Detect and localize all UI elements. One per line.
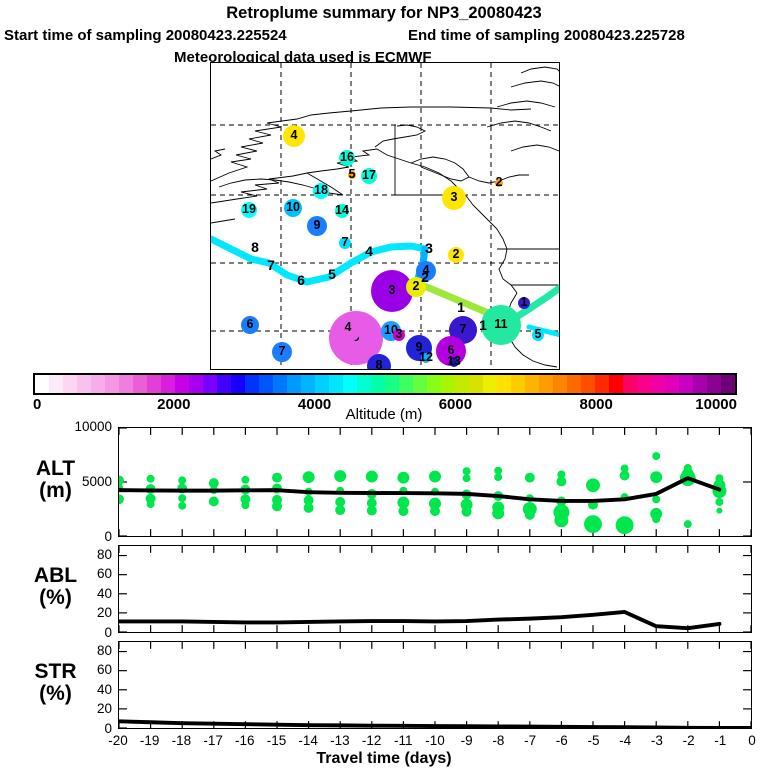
colorbar-swatch — [189, 375, 203, 393]
colorbar-swatch — [455, 375, 469, 393]
y-tick-label: 20 — [52, 605, 112, 620]
colorbar-swatch — [707, 375, 721, 393]
cluster-marker-label: 3 — [442, 190, 466, 204]
x-tick-label: 0 — [732, 733, 768, 748]
colorbar-swatch — [203, 375, 217, 393]
altitude-scatter-point — [584, 515, 602, 533]
y-tick-label: 0 — [52, 529, 112, 544]
trajectory-day-label: 6 — [289, 272, 313, 288]
altitude-scatter-point — [429, 471, 441, 483]
alt-plot-area — [119, 428, 751, 536]
altitude-scatter-point — [463, 467, 471, 475]
colorbar-swatch — [245, 375, 259, 393]
trajectory-day-label: 1 — [449, 299, 473, 315]
trajectory-day-label: 4 — [357, 243, 381, 259]
cluster-marker-label: 4 — [336, 320, 360, 334]
colorbar-swatch — [77, 375, 91, 393]
cluster-marker-label: 12 — [414, 350, 438, 364]
cluster-marker-label: 17 — [357, 168, 381, 182]
altitude-scatter-point — [272, 501, 282, 511]
colorbar-swatch — [651, 375, 665, 393]
altitude-scatter-point — [272, 473, 282, 483]
colorbar-swatch — [231, 375, 245, 393]
altitude-scatter-point — [463, 474, 471, 482]
cluster-marker-label: 8 — [367, 358, 391, 370]
altitude-scatter-point — [241, 476, 249, 484]
altitude-scatter-point — [525, 510, 535, 520]
colorbar-swatch — [175, 375, 189, 393]
colorbar-swatch — [35, 375, 49, 393]
altitude-scatter-point — [178, 476, 186, 484]
altitude-scatter-point — [147, 500, 155, 508]
altitude-scatter-point — [652, 515, 660, 523]
colorbar-swatch — [343, 375, 357, 393]
colorbar-swatch — [679, 375, 693, 393]
altitude-scatter-point — [241, 501, 249, 509]
colorbar-swatch — [581, 375, 595, 393]
altitude-scatter-point — [462, 507, 472, 517]
colorbar-swatch — [623, 375, 637, 393]
altitude-scatter-point — [716, 508, 722, 514]
colorbar-swatch — [273, 375, 287, 393]
cluster-marker-label: 2 — [444, 247, 468, 261]
altitude-scatter-point — [397, 472, 409, 484]
altitude-scatter-point — [430, 506, 440, 516]
colorbar-swatch — [259, 375, 273, 393]
y-tick-label: 80 — [52, 643, 112, 658]
altitude-scatter-point — [715, 498, 723, 506]
altitude-scatter-point — [209, 496, 219, 506]
colorbar-swatch — [105, 375, 119, 393]
altitude-scatter-point — [650, 471, 662, 483]
cluster-marker-label: 18 — [309, 183, 333, 197]
trajectory-day-label: 3 — [417, 240, 441, 256]
cluster-marker-label: 9 — [305, 218, 329, 232]
y-tick-label: 10000 — [52, 419, 112, 434]
cluster-marker-label: 5 — [526, 327, 550, 341]
cluster-marker-label: 19 — [237, 202, 261, 216]
y-tick-label: 0 — [52, 625, 112, 640]
colorbar-swatch — [133, 375, 147, 393]
colorbar-swatch — [539, 375, 553, 393]
str-chart[interactable] — [118, 641, 752, 729]
end-time-label: End time of sampling 20080423.225728 — [408, 27, 685, 44]
altitude-scatter-point — [304, 503, 314, 513]
str-plot-area — [119, 642, 751, 728]
alt-chart[interactable] — [118, 427, 752, 537]
colorbar-swatch — [483, 375, 497, 393]
cluster-marker-label: 16 — [335, 150, 359, 164]
colorbar-swatch — [693, 375, 707, 393]
colorbar-swatch — [161, 375, 175, 393]
colorbar-swatch — [609, 375, 623, 393]
altitude-scatter-point — [652, 452, 660, 460]
colorbar-swatch — [49, 375, 63, 393]
y-tick-label: 60 — [52, 662, 112, 677]
cluster-marker-label: 4 — [282, 128, 306, 142]
colorbar-swatch — [721, 375, 735, 393]
altitude-scatter-point — [586, 478, 600, 492]
colorbar-swatch — [119, 375, 133, 393]
colorbar-swatch — [427, 375, 441, 393]
colorbar-swatch — [371, 375, 385, 393]
colorbar-swatch — [595, 375, 609, 393]
colorbar-swatch — [63, 375, 77, 393]
colorbar-swatch — [525, 375, 539, 393]
colorbar-swatch — [301, 375, 315, 393]
altitude-scatter-point — [119, 494, 124, 504]
altitude-scatter-point — [684, 520, 692, 528]
y-tick-label: 5000 — [52, 474, 112, 489]
colorbar-swatch — [329, 375, 343, 393]
altitude-scatter-point — [616, 516, 634, 534]
altitude-scatter-point — [652, 495, 660, 503]
colorbar-swatch — [511, 375, 525, 393]
colorbar-swatch — [553, 375, 567, 393]
start-time-label: Start time of sampling 20080423.225524 — [4, 27, 287, 44]
trajectory-day-label: 1 — [471, 317, 495, 333]
cluster-marker-label: 2 — [487, 175, 511, 189]
page-title: Retroplume summary for NP3_20080423 — [0, 4, 768, 23]
altitude-scatter-point — [366, 471, 378, 483]
colorbar-swatch — [665, 375, 679, 393]
colorbar-swatch — [567, 375, 581, 393]
y-tick-label: 20 — [52, 701, 112, 716]
cluster-marker-label: 7 — [270, 344, 294, 358]
y-tick-label: 80 — [52, 547, 112, 562]
retroplume-map[interactable]: 4165172183191014972432111565410377912613… — [210, 62, 560, 370]
cluster-marker-label: 3 — [380, 283, 404, 297]
altitude-scatter-point — [367, 506, 377, 516]
y-tick-label: 40 — [52, 682, 112, 697]
colorbar-swatch — [637, 375, 651, 393]
altitude-scatter-point — [494, 473, 502, 481]
altitude-scatter-point — [398, 506, 408, 516]
x-axis-label: Travel time (days) — [0, 750, 768, 768]
y-tick-label: 40 — [52, 586, 112, 601]
colorbar-swatch — [469, 375, 483, 393]
altitude-colorbar[interactable] — [33, 373, 737, 395]
cluster-marker-label: 14 — [330, 203, 354, 217]
altitude-scatter-point — [178, 494, 186, 502]
colorbar-swatch — [413, 375, 427, 393]
abl-plot-area — [119, 546, 751, 632]
cluster-marker-label: 10 — [281, 200, 305, 214]
colorbar-swatch — [315, 375, 329, 393]
cluster-marker-label: 6 — [238, 317, 262, 331]
colorbar-axis-label: Altitude (m) — [0, 406, 768, 423]
altitude-scatter-point — [554, 513, 568, 527]
colorbar-swatch — [287, 375, 301, 393]
altitude-scatter-point — [147, 475, 155, 483]
trajectory-day-label: 8 — [243, 239, 267, 255]
colorbar-swatch — [217, 375, 231, 393]
colorbar-swatch — [441, 375, 455, 393]
colorbar-swatch — [385, 375, 399, 393]
cluster-marker-label: 3 — [387, 327, 411, 341]
colorbar-swatch — [147, 375, 161, 393]
trajectory-day-label: 2 — [413, 269, 437, 285]
altitude-scatter-point — [556, 477, 566, 487]
trajectory-day-label: 5 — [320, 266, 344, 282]
colorbar-swatch — [497, 375, 511, 393]
altitude-scatter-point — [525, 473, 535, 483]
altitude-scatter-point — [620, 471, 630, 481]
altitude-scatter-point — [335, 505, 345, 515]
cluster-marker-label: 7 — [333, 235, 357, 249]
abl-chart[interactable] — [118, 545, 752, 633]
colorbar-swatch — [91, 375, 105, 393]
y-tick-label: 60 — [52, 566, 112, 581]
colorbar-swatch — [399, 375, 413, 393]
altitude-scatter-point — [334, 470, 346, 482]
trajectory-day-label: 7 — [259, 257, 283, 273]
altitude-scatter-point — [492, 507, 504, 519]
altitude-scatter-point — [178, 502, 186, 510]
colorbar-swatch — [357, 375, 371, 393]
cluster-marker-label: 13 — [442, 354, 466, 368]
cluster-marker-label: 1 — [512, 295, 536, 309]
altitude-scatter-point — [303, 471, 315, 483]
